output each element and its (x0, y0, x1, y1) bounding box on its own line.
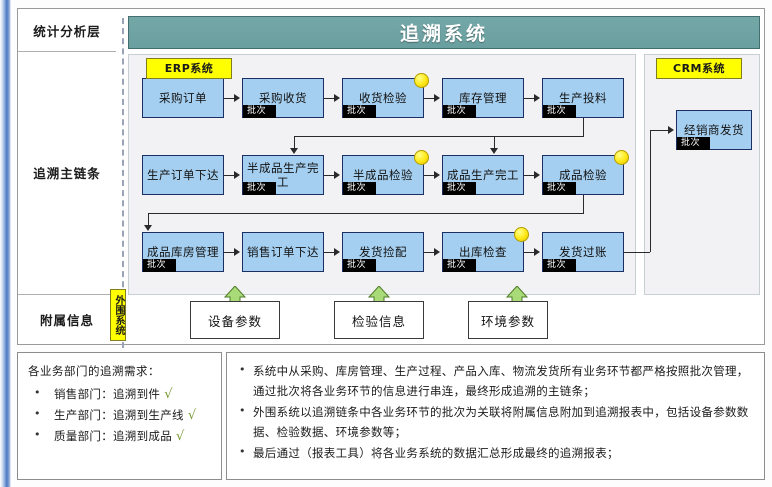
connector-r3-to-crm-h (624, 252, 650, 253)
node-finished-production[interactable]: 成品生产完工 批次 (442, 155, 524, 195)
arrow-r1-3-icon (434, 94, 440, 102)
requirements-note: 各业务部门的追溯需求： 销售部门：追溯到件√ 生产部门：追溯到生产线√ 质量部门… (17, 352, 222, 480)
node-dealer-shipment[interactable]: 经销商发货 批次 (676, 110, 752, 150)
node-production-feeding[interactable]: 生产投料 批次 (542, 78, 624, 118)
node-finished-inspection[interactable]: 成品检验 批次 (542, 155, 624, 195)
arrow-r3-1-icon (234, 248, 240, 256)
sidebar-item-attached-info: 附属信息 (18, 294, 116, 345)
node-outbound-check[interactable]: 出库检查 批次 (442, 232, 524, 272)
node-label: 半成品检验 (353, 168, 413, 182)
node-purchase-order[interactable]: 采购订单 (142, 78, 224, 118)
attachment-box-environment-params[interactable]: 环境参数 (468, 301, 548, 339)
arrow-branch-finished-icon (490, 148, 498, 154)
sidebar-item-main-chain: 追溯主链条 (18, 51, 116, 294)
sidebar-label-statistics: 统计分析层 (33, 21, 101, 40)
description-note: 系统中从采购、库房管理、生产过程、产品入库、物流发货所有业务环节都严格按照批次管… (226, 352, 765, 480)
connector-r1-down (583, 118, 584, 136)
node-label: 采购收货 (259, 91, 307, 105)
batch-tag: 批次 (343, 105, 376, 118)
batch-tag: 批次 (543, 259, 576, 272)
batch-tag: 批次 (543, 105, 576, 118)
crm-system-tag: CRM系统 (656, 58, 742, 79)
arrow-r3-3-icon (434, 248, 440, 256)
arrow-r2-2-icon (334, 171, 340, 179)
list-item: 销售部门：追溯到件√ (28, 384, 213, 405)
left-edge-gradient (0, 0, 11, 487)
arrow-r2-to-warehouse-icon (144, 225, 152, 231)
node-receipt-inspection[interactable]: 收货检验 批次 (342, 78, 424, 118)
node-semi-finished-production[interactable]: 半成品生产完工 批次 (242, 155, 324, 195)
arrow-r3-2-icon (334, 248, 340, 256)
list-item: 外围系统以追溯链条中各业务环节的批次为关联将附属信息附加到追溯报表中，包括设备参… (237, 402, 756, 442)
node-label: 经销商发货 (684, 123, 744, 137)
arrow-crm-in-icon (668, 126, 674, 134)
batch-tag: 批次 (443, 259, 476, 272)
outer-system-tag: 外围系统 (110, 289, 126, 341)
batch-tag: 批次 (143, 259, 176, 272)
attachment-label: 环境参数 (481, 311, 535, 330)
sidebar-label-main-chain: 追溯主链条 (33, 163, 101, 182)
node-shipment-picking[interactable]: 发货捡配 批次 (342, 232, 424, 272)
node-label: 发货过账 (559, 245, 607, 259)
node-label: 采购订单 (159, 91, 207, 105)
arrow-r1-1-icon (234, 94, 240, 102)
highlight-dot-icon (514, 227, 529, 242)
node-label: 库存管理 (459, 91, 507, 105)
list-item: 最后通过（报表工具）将各业务系统的数据汇总形成最终的追溯报表； (237, 443, 756, 463)
node-sales-order-release[interactable]: 销售订单下达 (242, 232, 324, 272)
arrow-r3-4-icon (534, 248, 540, 256)
node-label: 收货检验 (359, 91, 407, 105)
sidebar-item-statistics: 统计分析层 (18, 9, 116, 51)
node-purchase-receipt[interactable]: 采购收货 批次 (242, 78, 324, 118)
node-label: 出库检查 (459, 245, 507, 259)
batch-tag: 批次 (243, 105, 276, 118)
node-label: 销售订单下达 (247, 245, 319, 259)
requirement-text: 销售部门：追溯到件 (54, 387, 160, 401)
requirement-text: 生产部门：追溯到生产线 (54, 408, 184, 422)
batch-tag: 批次 (443, 182, 476, 195)
check-icon: √ (188, 408, 197, 423)
crm-system-panel (644, 54, 760, 295)
attachment-box-inspection-info[interactable]: 检验信息 (334, 301, 424, 339)
diagram-frame: 统计分析层 追溯主链条 附属信息 追溯系统 采购订单 采购收货 批次 (17, 8, 765, 345)
highlight-dot-icon (414, 150, 429, 165)
node-label: 成品生产完工 (447, 168, 519, 182)
node-finished-warehouse[interactable]: 成品库房管理 批次 (142, 232, 224, 272)
node-label: 成品检验 (559, 168, 607, 182)
arrow-branch-semi-icon (290, 148, 298, 154)
highlight-dot-icon (414, 73, 429, 88)
arrow-r2-4-icon (534, 171, 540, 179)
list-item: 系统中从采购、库房管理、生产过程、产品入库、物流发货所有业务环节都严格按照批次管… (237, 361, 756, 401)
list-item: 生产部门：追溯到生产线√ (28, 405, 213, 426)
check-icon: √ (176, 429, 185, 444)
highlight-dot-icon (614, 150, 629, 165)
batch-tag: 批次 (677, 137, 710, 150)
batch-tag: 批次 (243, 182, 276, 195)
connector-r3-to-crm-v (650, 130, 651, 252)
node-label: 生产订单下达 (147, 168, 219, 182)
arrow-r2-3-icon (434, 171, 440, 179)
erp-system-tag: ERP系统 (146, 58, 232, 79)
batch-tag: 批次 (343, 259, 376, 272)
connector-r2-bus (148, 213, 584, 214)
description-list: 系统中从采购、库房管理、生产过程、产品入库、物流发货所有业务环节都严格按照批次管… (237, 361, 756, 463)
batch-tag: 批次 (543, 182, 576, 195)
connector-r2-down (583, 195, 584, 213)
node-label: 生产投料 (559, 91, 607, 105)
node-production-order-release[interactable]: 生产订单下达 (142, 155, 224, 195)
node-inventory-management[interactable]: 库存管理 批次 (442, 78, 524, 118)
arrow-r2-1-icon (234, 171, 240, 179)
attachment-box-equipment-params[interactable]: 设备参数 (190, 301, 280, 339)
attachment-label: 设备参数 (208, 311, 262, 330)
node-shipment-posting[interactable]: 发货过账 批次 (542, 232, 624, 272)
page-title: 追溯系统 (128, 16, 760, 49)
requirements-list: 销售部门：追溯到件√ 生产部门：追溯到生产线√ 质量部门：追溯到成品√ (28, 384, 213, 447)
batch-tag: 批次 (343, 182, 376, 195)
check-icon: √ (164, 387, 173, 402)
requirements-heading: 各业务部门的追溯需求： (28, 361, 213, 381)
requirement-text: 质量部门：追溯到成品 (54, 429, 172, 443)
node-label: 成品库房管理 (147, 245, 219, 259)
node-semi-finished-inspection[interactable]: 半成品检验 批次 (342, 155, 424, 195)
diagram-canvas: 统计分析层 追溯主链条 附属信息 追溯系统 采购订单 采购收货 批次 (0, 0, 772, 487)
node-label: 发货捡配 (359, 245, 407, 259)
attachment-label: 检验信息 (352, 311, 406, 330)
connector-r1-branch-bus (294, 136, 584, 137)
list-item: 质量部门：追溯到成品√ (28, 426, 213, 447)
arrow-r1-4-icon (534, 94, 540, 102)
sidebar-label-attached-info: 附属信息 (40, 310, 94, 329)
batch-tag: 批次 (443, 105, 476, 118)
arrow-r1-2-icon (334, 94, 340, 102)
